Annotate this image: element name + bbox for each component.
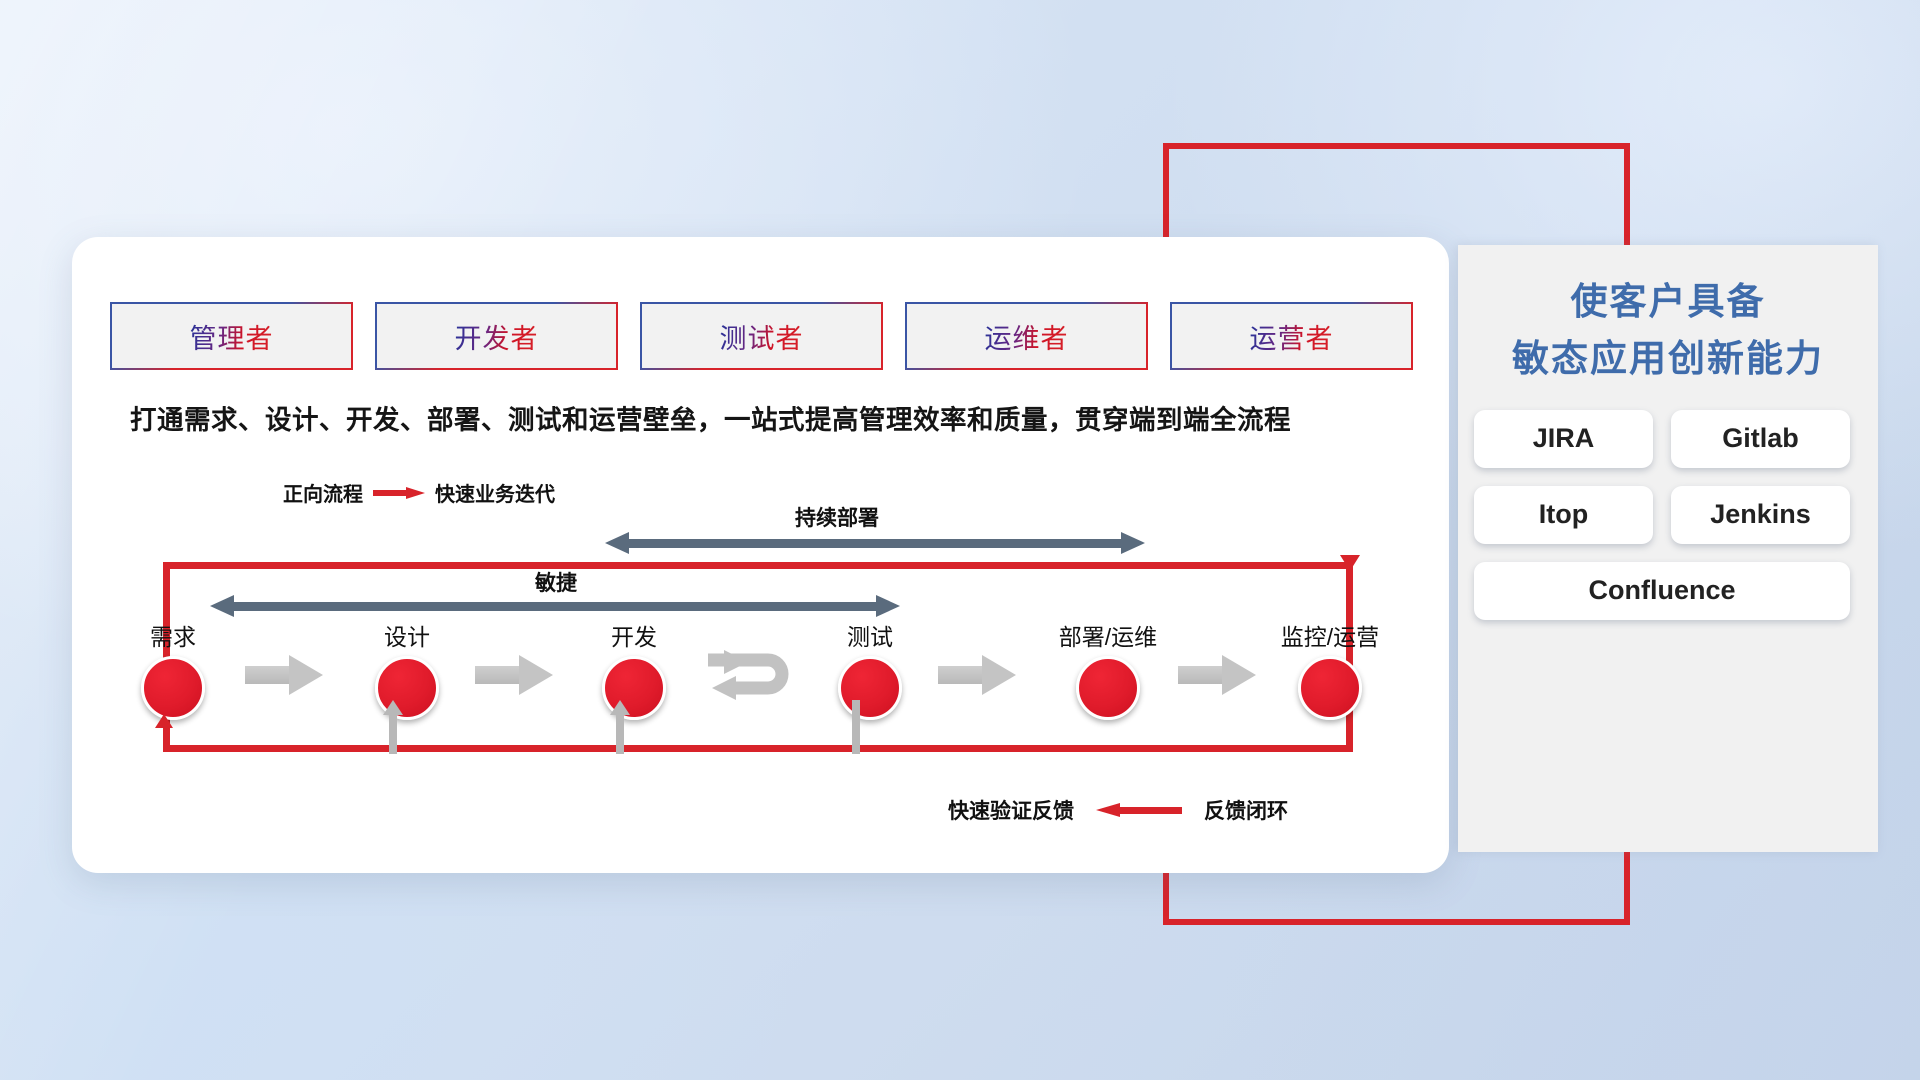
role-box-operations[interactable]: 运营者 [1170, 302, 1413, 370]
tool-chip-jenkins[interactable]: Jenkins [1671, 486, 1850, 544]
loop-tick-up-requirement [155, 714, 173, 728]
loop-arrow-icon [700, 648, 810, 710]
stage-label: 设计 [362, 618, 452, 652]
role-label: 管理者 [190, 317, 274, 356]
pipeline-stage-test[interactable]: 测试 [825, 618, 915, 720]
loop-stem-develop [616, 712, 624, 754]
legend-feedback-loop: 快速验证反馈 反馈闭环 [948, 795, 1288, 825]
role-box-manager[interactable]: 管理者 [110, 302, 353, 370]
role-box-ops[interactable]: 运维者 [905, 302, 1148, 370]
stage-label: 监控/运营 [1255, 618, 1405, 652]
stage-dot-icon [141, 656, 205, 720]
tool-chip-gitlab[interactable]: Gitlab [1671, 410, 1850, 468]
loop-stem-test [852, 700, 860, 754]
tool-chip-confluence[interactable]: Confluence [1474, 562, 1850, 620]
chevron-arrow-icon-3 [938, 655, 1016, 695]
pipeline-stage-design[interactable]: 设计 [362, 618, 452, 720]
role-label: 运营者 [1250, 317, 1334, 356]
stage-label: 开发 [589, 618, 679, 652]
stage-label: 部署/运维 [1033, 618, 1183, 652]
role-box-row: 管理者 开发者 测试者 运维者 运营者 [110, 302, 1413, 370]
tool-chip-itop[interactable]: Itop [1474, 486, 1653, 544]
loop-stem-design [389, 712, 397, 754]
legend-feedback-left-label: 快速验证反馈 [948, 795, 1074, 825]
pipeline-stage-requirement[interactable]: 需求 [128, 618, 218, 720]
role-box-tester[interactable]: 测试者 [640, 302, 883, 370]
pipeline-stage-deploy-ops[interactable]: 部署/运维 [1033, 618, 1183, 720]
stage-label: 需求 [128, 618, 218, 652]
role-box-developer[interactable]: 开发者 [375, 302, 618, 370]
panel-title-line1: 使客户具备 [1458, 273, 1878, 330]
tool-chip-list: JIRA Gitlab Itop Jenkins Confluence [1474, 410, 1862, 620]
legend-forward-flow: 正向流程 快速业务迭代 [283, 478, 555, 507]
double-arrow-icon-deploy [605, 532, 1145, 554]
stage-dot-icon [1298, 656, 1362, 720]
loop-tick-up-design [383, 700, 403, 715]
chevron-arrow-icon-4 [1178, 655, 1256, 695]
tool-chip-jira[interactable]: JIRA [1474, 410, 1653, 468]
span-arrow-label-deploy: 持续部署 [795, 502, 879, 532]
legend-forward-right-label: 快速业务迭代 [435, 478, 555, 507]
panel-title-line2: 敏态应用创新能力 [1458, 330, 1878, 387]
pipeline-stage-develop[interactable]: 开发 [589, 618, 679, 720]
stage-label: 测试 [825, 618, 915, 652]
loop-tick-down-monitor [1340, 555, 1360, 571]
role-label: 开发者 [455, 317, 539, 356]
stage-dot-icon [838, 656, 902, 720]
panel-title: 使客户具备 敏态应用创新能力 [1458, 245, 1878, 388]
stage-dot-icon [1076, 656, 1140, 720]
chevron-arrow-icon-1 [245, 655, 323, 695]
role-label: 运维者 [985, 317, 1069, 356]
double-arrow-icon-agile [210, 595, 900, 617]
chevron-arrow-icon-2 [475, 655, 553, 695]
span-arrow-label-agile: 敏捷 [535, 567, 577, 597]
legend-forward-left-label: 正向流程 [283, 478, 363, 507]
right-side-panel: 使客户具备 敏态应用创新能力 JIRA Gitlab Itop Jenkins … [1458, 245, 1878, 852]
pipeline-stage-monitor-operations[interactable]: 监控/运营 [1255, 618, 1405, 720]
legend-feedback-right-label: 反馈闭环 [1204, 795, 1288, 825]
subtitle-text: 打通需求、设计、开发、部署、测试和运营壁垒，一站式提高管理效率和质量，贯穿端到端… [130, 398, 1420, 437]
loop-tick-up-develop [610, 700, 630, 715]
arrow-left-icon [1096, 803, 1182, 817]
role-label: 测试者 [720, 317, 804, 356]
arrow-right-icon [373, 487, 425, 499]
